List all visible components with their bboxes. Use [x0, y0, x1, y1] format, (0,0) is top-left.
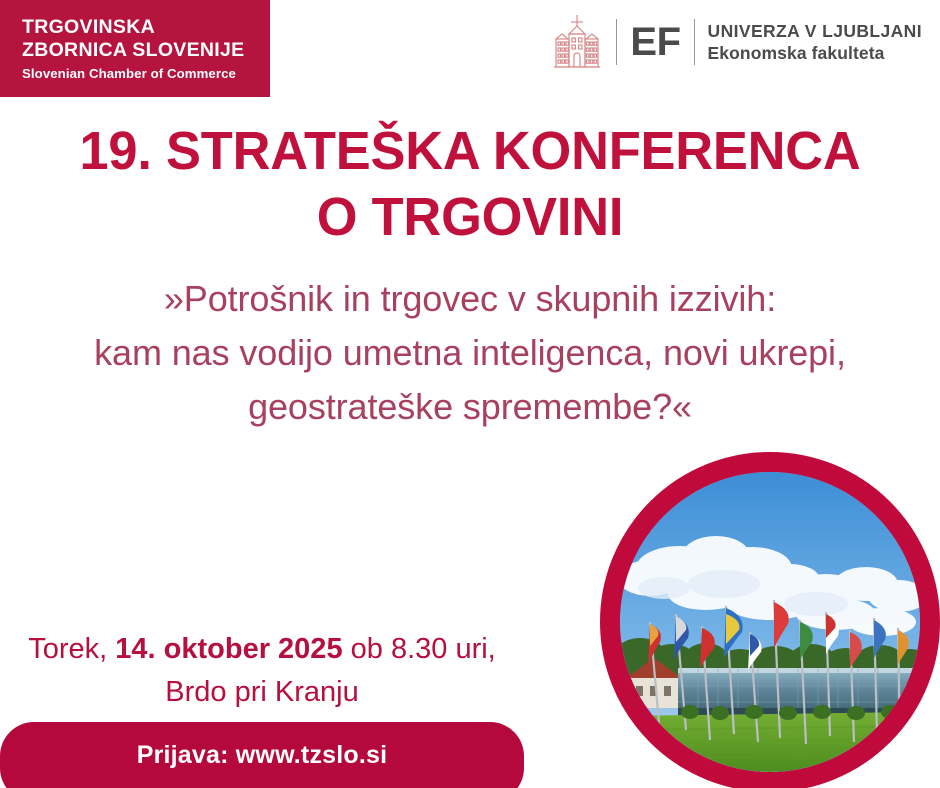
event-time: ob 8.30 uri, — [343, 633, 496, 665]
ef-university-name: UNIVERZA V LJUBLJANI — [708, 20, 922, 42]
ef-faculty-name: Ekonomska fakulteta — [708, 42, 922, 64]
tzs-logo-line2: ZBORNICA SLOVENIJE — [22, 39, 270, 62]
venue-photo — [600, 452, 940, 788]
title-line-2: O TRGOVINI — [14, 184, 926, 250]
brdo-pri-kranju-photo — [620, 472, 920, 772]
title-line-1: 19. STRATEŠKA KONFERENCA — [14, 118, 926, 184]
event-date-value: 14. oktober 2025 — [115, 633, 342, 665]
logo-divider-left — [616, 19, 617, 65]
tzs-logo-line3: Slovenian Chamber of Commerce — [22, 64, 270, 84]
tzs-logo: TRGOVINSKA ZBORNICA SLOVENIJE Slovenian … — [0, 0, 270, 97]
registration-link-label[interactable]: Prijava: www.tzslo.si — [137, 740, 388, 770]
venue-photo-inner — [620, 472, 920, 772]
registration-banner[interactable]: Prijava: www.tzslo.si — [0, 722, 524, 788]
event-date-line: Torek, 14. oktober 2025 ob 8.30 uri, — [0, 628, 524, 671]
conference-poster: TRGOVINSKA ZBORNICA SLOVENIJE Slovenian … — [0, 0, 940, 788]
ef-monogram: EF — [630, 22, 680, 62]
event-location: Brdo pri Kranju — [0, 671, 524, 714]
subtitle-line-1: »Potrošnik in trgovec v skupnih izzivih: — [0, 272, 940, 326]
page-subtitle: »Potrošnik in trgovec v skupnih izzivih:… — [0, 272, 940, 434]
ef-logo-text: UNIVERZA V LJUBLJANI Ekonomska fakulteta — [708, 20, 922, 64]
event-details: Torek, 14. oktober 2025 ob 8.30 uri, Brd… — [0, 628, 524, 714]
university-building-icon — [551, 13, 603, 71]
page-title: 19. STRATEŠKA KONFERENCA O TRGOVINI — [0, 118, 940, 250]
subtitle-line-2: kam nas vodijo umetna inteligenca, novi … — [0, 326, 940, 380]
tzs-logo-line1: TRGOVINSKA — [22, 16, 270, 39]
ef-university-logo: EF UNIVERZA V LJUBLJANI Ekonomska fakult… — [551, 10, 922, 74]
logo-divider-right — [694, 19, 695, 65]
subtitle-line-3: geostrateške spremembe?« — [0, 380, 940, 434]
event-date-prefix: Torek, — [28, 633, 115, 665]
